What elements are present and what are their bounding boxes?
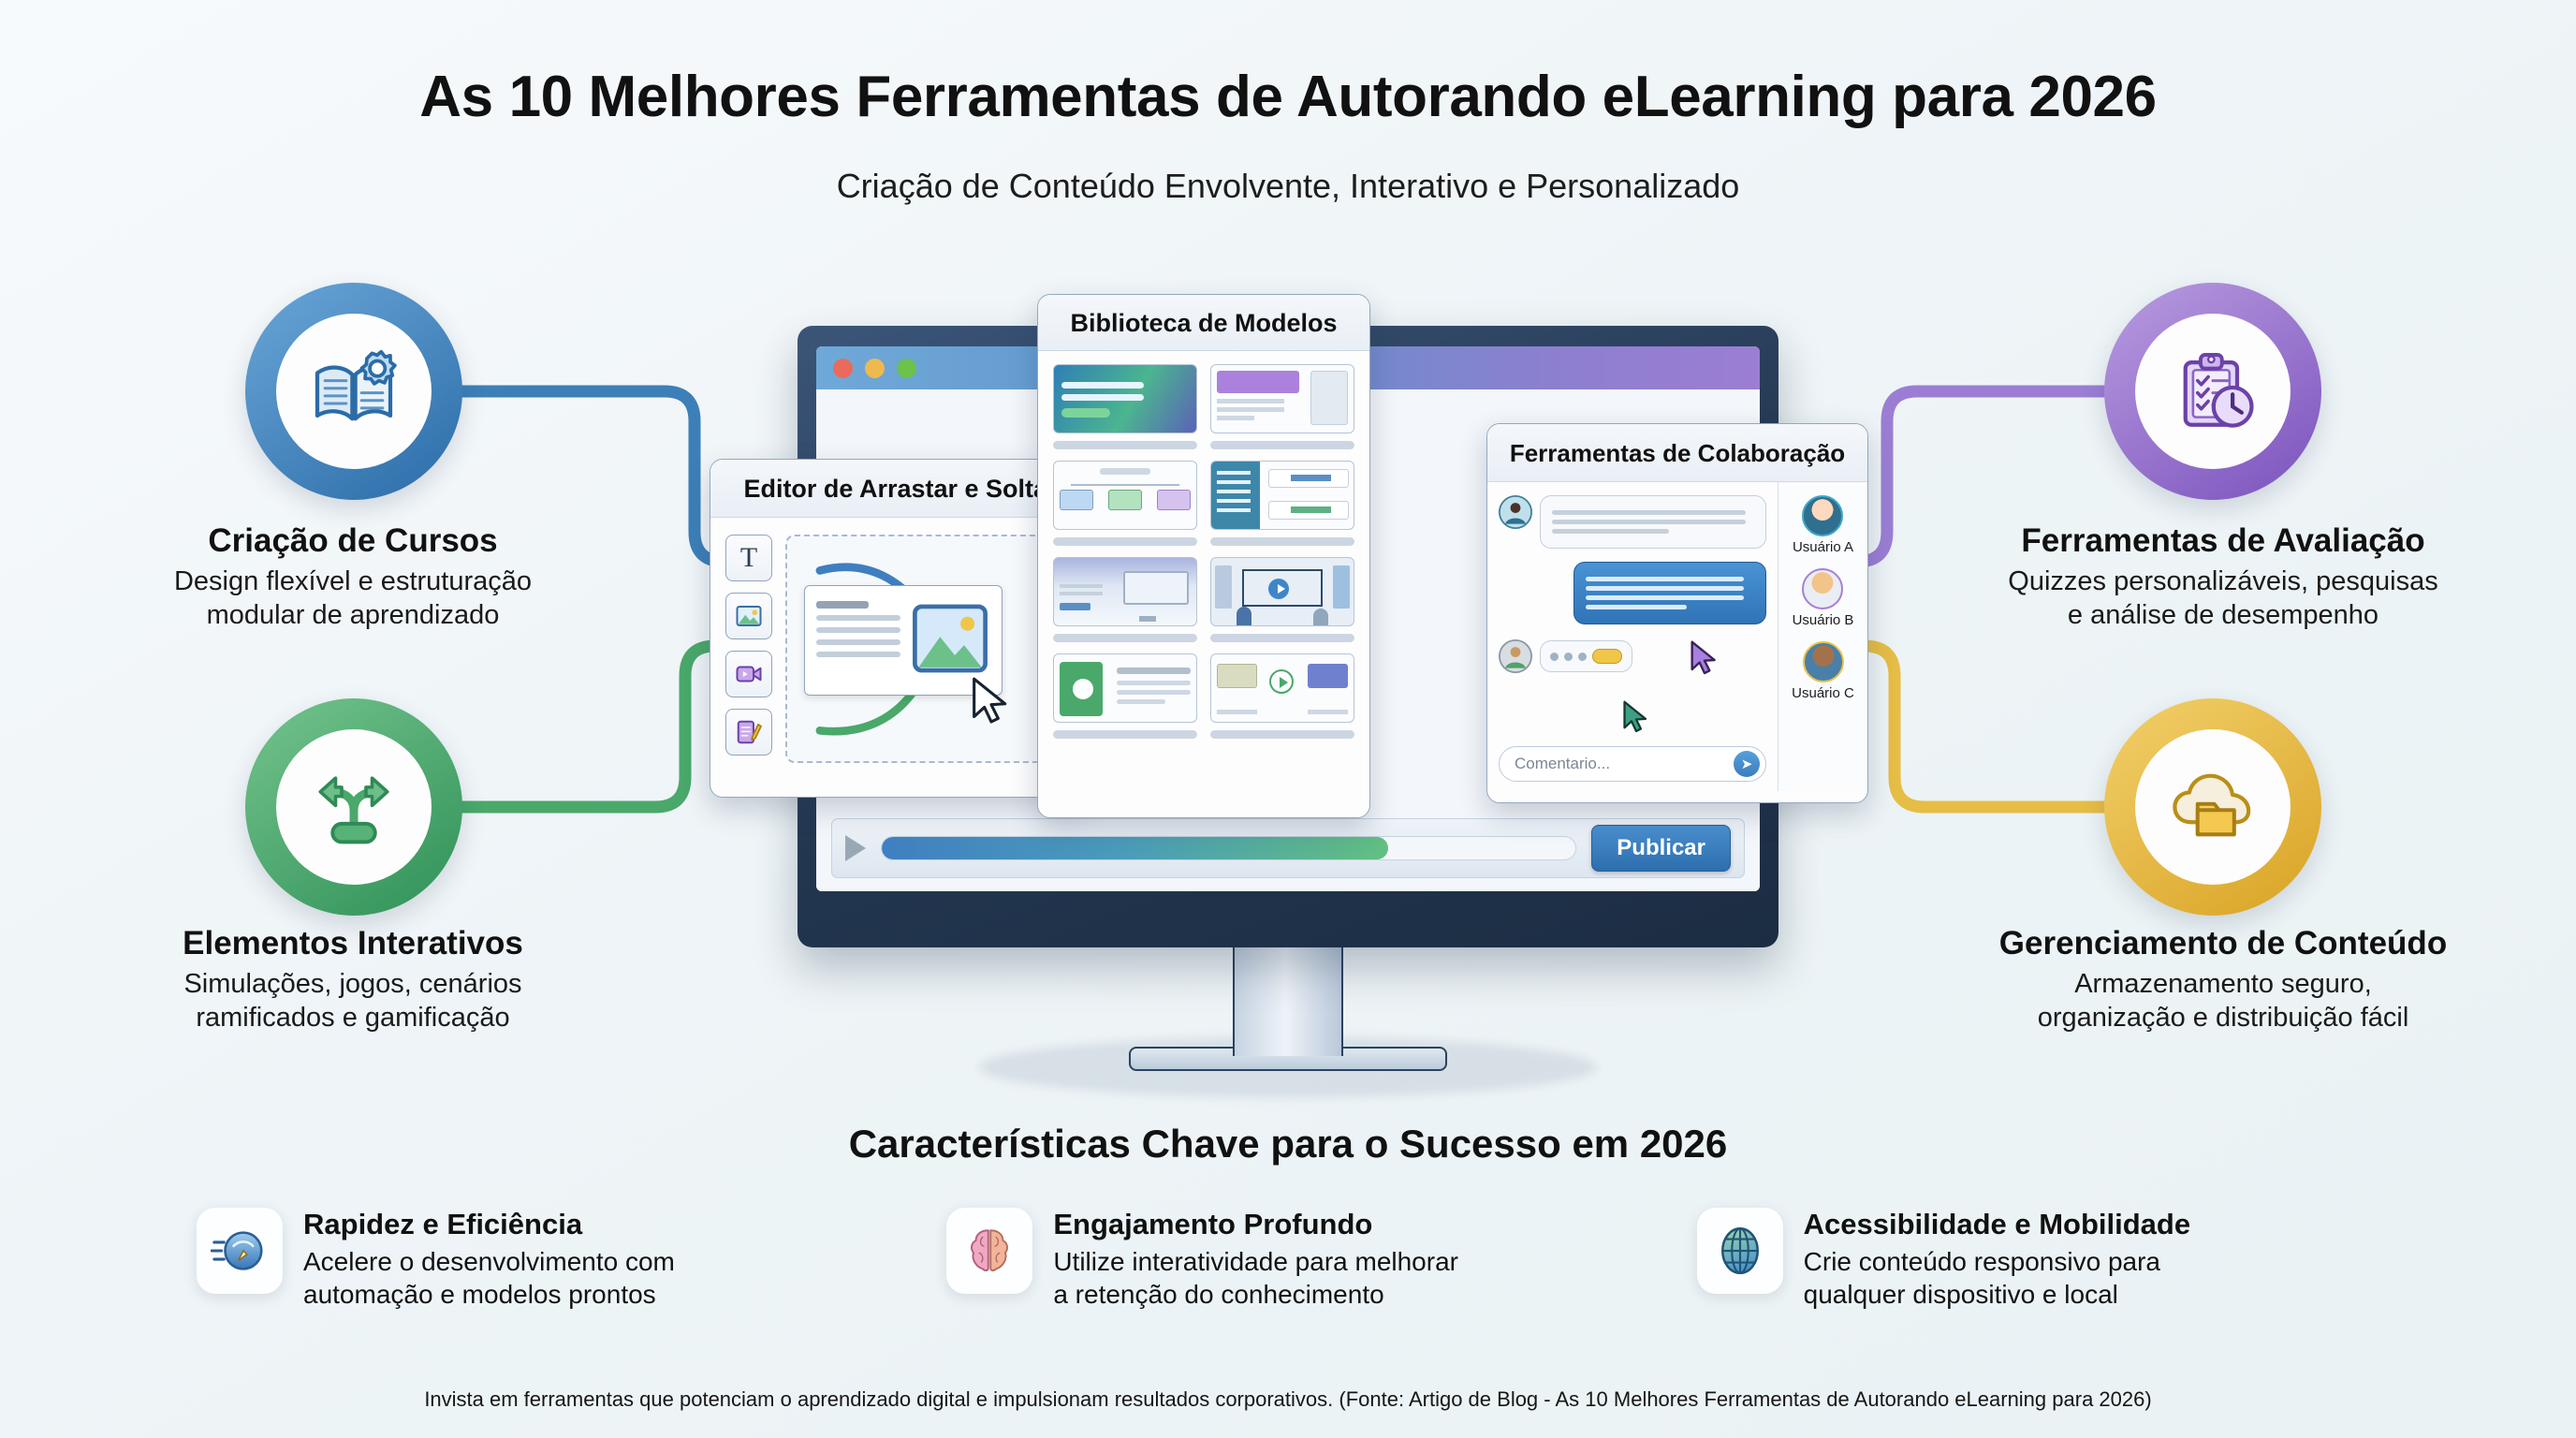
key-feature-item: Rapidez e Eficiência Acelere o desenvolv… xyxy=(197,1208,905,1312)
speedometer-icon xyxy=(211,1222,269,1280)
collaboration-tools-card[interactable]: Ferramentas de Colaboração xyxy=(1486,423,1868,803)
template-thumb xyxy=(1053,653,1197,723)
window-minimize-dot[interactable] xyxy=(865,359,885,378)
key-feature-desc-line1: Utilize interatividade para melhorar xyxy=(1053,1245,1458,1278)
template-thumb xyxy=(1210,653,1354,723)
message-bubble xyxy=(1540,495,1766,549)
typing-bubble xyxy=(1540,640,1632,672)
text-placeholder-lines xyxy=(816,597,900,683)
template-caption-bar xyxy=(1210,634,1354,642)
key-feature-item: Engajamento Profundo Utilize interativid… xyxy=(946,1208,1655,1312)
brain-icon-wrap xyxy=(946,1208,1032,1294)
window-maximize-dot[interactable] xyxy=(897,359,916,378)
template-thumb xyxy=(1210,364,1354,433)
key-feature-desc-line2: a retenção do conhecimento xyxy=(1053,1278,1458,1311)
node-desc-line1: Simulações, jogos, cenários xyxy=(49,968,657,1002)
template-item[interactable] xyxy=(1053,461,1197,546)
node-desc-line2: ramificados e gamificação xyxy=(49,1002,657,1035)
user-list: Usuário A Usuário B Usuário C xyxy=(1778,482,1867,791)
template-item[interactable] xyxy=(1210,557,1354,642)
template-caption-bar xyxy=(1210,537,1354,546)
image-thumb-icon xyxy=(910,597,990,680)
template-item[interactable] xyxy=(1053,653,1197,739)
key-feature-desc-line1: Acelere o desenvolvimento com xyxy=(303,1245,675,1278)
user-label: Usuário B xyxy=(1793,612,1854,628)
node-desc-line2: e análise de desempenho xyxy=(1919,599,2527,633)
book-gear-icon xyxy=(305,343,402,440)
message-bubble xyxy=(1573,562,1766,624)
footer-note: Invista em ferramentas que potenciam o a… xyxy=(0,1387,2576,1412)
avatar xyxy=(1803,641,1844,682)
chat-message-outgoing xyxy=(1499,562,1766,624)
template-caption-bar xyxy=(1210,730,1354,739)
template-caption-bar xyxy=(1053,730,1197,739)
key-feature-desc-line2: automação e modelos prontos xyxy=(303,1278,675,1311)
course-creation-badge[interactable] xyxy=(245,283,462,500)
send-icon[interactable]: ➤ xyxy=(1734,751,1760,777)
key-feature-item: Acessibilidade e Mobilidade Crie conteúd… xyxy=(1697,1208,2406,1312)
key-feature-title: Acessibilidade e Mobilidade xyxy=(1804,1208,2190,1241)
playback-toolbar: Publicar xyxy=(831,818,1745,878)
template-thumb xyxy=(1053,461,1197,530)
template-library-card[interactable]: Biblioteca de Modelos xyxy=(1037,294,1370,818)
play-triangle-icon[interactable] xyxy=(845,835,866,861)
user-label: Usuário C xyxy=(1792,685,1854,701)
template-thumb xyxy=(1053,364,1197,433)
avatar xyxy=(1802,495,1843,536)
template-caption-bar xyxy=(1053,537,1197,546)
template-item[interactable] xyxy=(1210,653,1354,739)
node-title: Ferramentas de Avaliação xyxy=(1919,522,2527,560)
brain-icon xyxy=(962,1224,1017,1278)
template-item[interactable] xyxy=(1210,364,1354,449)
assessment-tools-badge[interactable] xyxy=(2104,283,2321,500)
branching-arrows-icon xyxy=(305,758,402,856)
node-desc-line2: modular de aprendizado xyxy=(49,599,657,633)
purple-cursor-icon xyxy=(1690,639,1720,677)
globe-icon-wrap xyxy=(1697,1208,1783,1294)
globe-icon xyxy=(1712,1223,1768,1279)
editor-tool-rail: T xyxy=(725,535,772,763)
node-desc-line1: Armazenamento seguro, xyxy=(1919,968,2527,1002)
teal-cursor-icon xyxy=(1622,699,1650,735)
collab-card-body: Comentario... ➤ Usuário A Usuário B Usuá… xyxy=(1487,482,1867,791)
node-desc-line1: Quizzes personalizáveis, pesquisas xyxy=(1919,565,2527,599)
template-thumb xyxy=(1210,557,1354,626)
key-feature-desc-line2: qualquer dispositivo e local xyxy=(1804,1278,2190,1311)
drag-drop-editor-card[interactable]: Editor de Arrastar e Soltar T xyxy=(710,459,1091,798)
content-management-badge[interactable] xyxy=(2104,698,2321,916)
video-tool-icon[interactable] xyxy=(725,651,772,697)
key-feature-title: Rapidez e Eficiência xyxy=(303,1208,675,1241)
editor-card-title: Editor de Arrastar e Soltar xyxy=(710,460,1090,518)
avatar xyxy=(1499,639,1532,673)
user-item[interactable]: Usuário A xyxy=(1793,495,1853,555)
editor-dropzone[interactable] xyxy=(785,535,1076,763)
template-caption-bar xyxy=(1053,441,1197,449)
key-feature-title: Engajamento Profundo xyxy=(1053,1208,1458,1241)
progress-fill xyxy=(882,837,1388,859)
template-caption-bar xyxy=(1053,634,1197,642)
text-tool-icon[interactable]: T xyxy=(725,535,772,581)
clipboard-clock-icon xyxy=(2164,343,2261,440)
node-title: Elementos Interativos xyxy=(49,925,657,962)
image-tool-icon[interactable] xyxy=(725,593,772,639)
quiz-tool-icon[interactable] xyxy=(725,709,772,756)
editor-card-body: T xyxy=(710,518,1090,780)
progress-bar[interactable] xyxy=(881,836,1576,860)
interactive-elements-badge[interactable] xyxy=(245,698,462,916)
chat-message-incoming xyxy=(1499,495,1766,549)
node-desc-line2: organização e distribuição fácil xyxy=(1919,1002,2527,1035)
template-item[interactable] xyxy=(1210,461,1354,546)
window-close-dot[interactable] xyxy=(833,359,853,378)
node-title: Criação de Cursos xyxy=(49,522,657,560)
library-card-title: Biblioteca de Modelos xyxy=(1038,295,1369,351)
template-thumb xyxy=(1210,461,1354,530)
comment-input[interactable]: Comentario... xyxy=(1515,755,1734,773)
badge-inner xyxy=(2135,314,2291,469)
cloud-folder-icon xyxy=(2164,758,2261,856)
template-thumb xyxy=(1053,557,1197,626)
template-item[interactable] xyxy=(1053,364,1197,449)
avatar xyxy=(1499,495,1532,529)
user-label: Usuário A xyxy=(1793,539,1853,555)
avatar xyxy=(1802,568,1843,609)
user-item[interactable]: Usuário C xyxy=(1792,641,1854,701)
node-title: Gerenciamento de Conteúdo xyxy=(1919,925,2527,962)
key-features-row: Rapidez e Eficiência Acelere o desenvolv… xyxy=(197,1208,2406,1312)
infographic-stage: As 10 Melhores Ferramentas de Autorando … xyxy=(0,0,2576,1438)
template-caption-bar xyxy=(1210,441,1354,449)
monitor-neck xyxy=(1233,944,1343,1056)
user-item[interactable]: Usuário B xyxy=(1793,568,1854,628)
collab-card-title: Ferramentas de Colaboração xyxy=(1487,424,1867,482)
badge-inner xyxy=(276,729,432,885)
comment-input-row[interactable]: Comentario... ➤ xyxy=(1499,746,1766,782)
badge-inner xyxy=(276,314,432,469)
chat-column: Comentario... ➤ xyxy=(1487,482,1778,791)
speedometer-icon-wrap xyxy=(197,1208,283,1294)
key-feature-desc-line1: Crie conteúdo responsivo para xyxy=(1804,1245,2190,1278)
key-features-heading: Características Chave para o Sucesso em … xyxy=(0,1122,2576,1167)
badge-inner xyxy=(2135,729,2291,885)
node-desc-line1: Design flexível e estruturação xyxy=(49,565,657,599)
template-grid xyxy=(1038,351,1369,752)
template-item[interactable] xyxy=(1053,557,1197,642)
chat-typing-indicator xyxy=(1499,639,1766,673)
arrow-cursor-icon xyxy=(971,677,1012,726)
publish-button[interactable]: Publicar xyxy=(1591,825,1731,872)
